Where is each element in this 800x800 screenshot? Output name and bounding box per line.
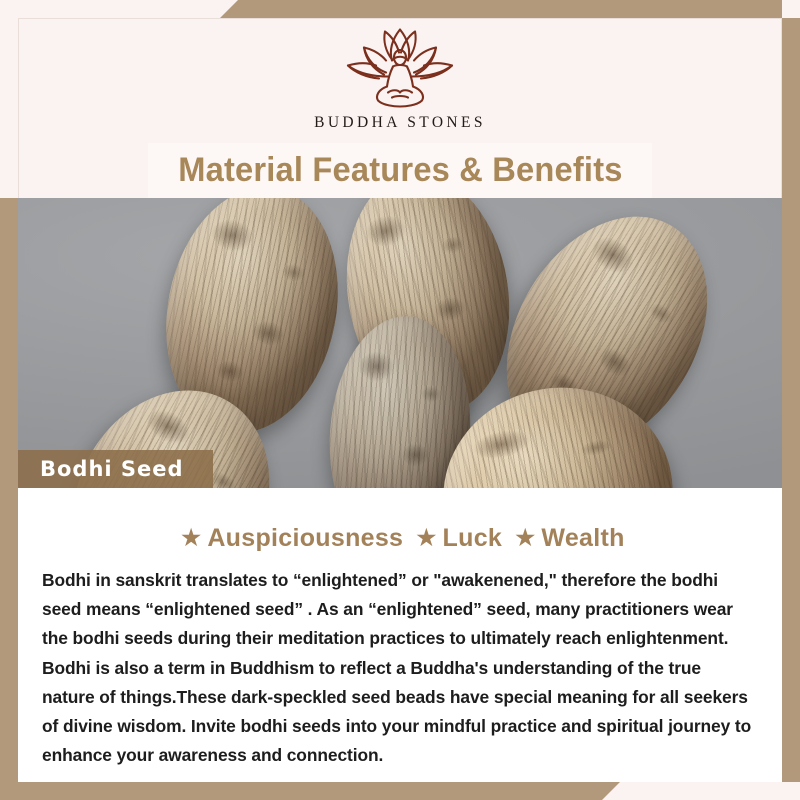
star-icon: ★ xyxy=(515,525,535,551)
frame-right-notch xyxy=(782,0,800,18)
frame-bottom-accent-bar xyxy=(0,782,620,800)
benefit-item-luck: Luck xyxy=(443,524,503,552)
benefit-item-wealth: Wealth xyxy=(541,524,624,552)
star-icon: ★ xyxy=(417,525,437,551)
star-icon: ★ xyxy=(181,525,201,551)
lotus-meditation-figure-icon xyxy=(340,24,460,110)
headline-band: Material Features & Benefits xyxy=(148,143,652,198)
brand-name: BUDDHA STONES xyxy=(314,114,486,132)
frame-top-accent-bar xyxy=(220,0,800,18)
photo-caption-label: Bodhi Seed xyxy=(40,457,184,481)
infographic-page: BUDDHA STONES Material Features & Benefi… xyxy=(0,0,800,800)
page-title: Material Features & Benefits xyxy=(178,151,622,190)
benefits-row: ★Auspiciousness ★Luck ★Wealth xyxy=(18,524,782,553)
description-text: Bodhi in sanskrit translates to “enlight… xyxy=(42,566,758,770)
photo-caption-banner: Bodhi Seed xyxy=(18,450,213,488)
brand-logo: BUDDHA STONES xyxy=(0,24,800,132)
product-photo xyxy=(18,198,782,488)
benefit-item-auspiciousness: Auspiciousness xyxy=(207,524,403,552)
